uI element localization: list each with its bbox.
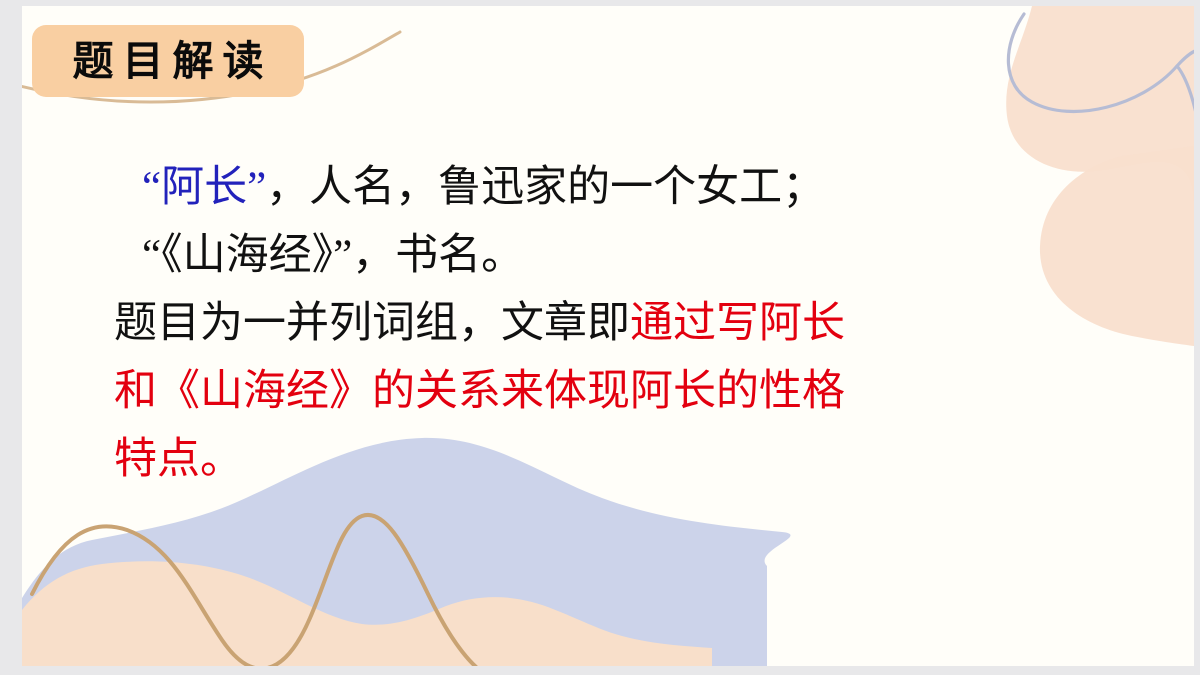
text-line: 题目为一并列词组，文章即通过写阿长: [114, 290, 1124, 358]
text-segment-black: 题目为一并列词组，文章即: [114, 300, 630, 347]
text-line: 特点。: [114, 426, 1124, 494]
title-badge: 题目解读: [32, 25, 304, 97]
text-segment-black: ，人名，鲁迅家的一个女工；: [266, 164, 825, 211]
text-segment-red: 通过写阿长: [630, 300, 845, 347]
text-line: “《山海经》”，书名。: [114, 222, 1124, 290]
bottom-peach-wave: [22, 561, 712, 666]
top-right-blue-curve-tail: [1177, 66, 1194, 306]
body-text-block: “阿长”，人名，鲁迅家的一个女工；“《山海经》”，书名。题目为一并列词组，文章即…: [114, 154, 1124, 494]
text-segment-black: “《山海经》”，书名。: [142, 232, 524, 279]
bottom-tan-curve: [32, 515, 492, 666]
slide-canvas: 题目解读 “阿长”，人名，鲁迅家的一个女工；“《山海经》”，书名。题目为一并列词…: [0, 0, 1200, 675]
text-segment-blue: “阿长”: [142, 164, 266, 211]
text-line: “阿长”，人名，鲁迅家的一个女工；: [114, 154, 1124, 222]
text-segment-red: 特点。: [114, 436, 243, 483]
slide-surface: 题目解读 “阿长”，人名，鲁迅家的一个女工；“《山海经》”，书名。题目为一并列词…: [22, 6, 1194, 666]
top-right-blue-curve: [1008, 14, 1194, 111]
title-badge-label: 题目解读: [64, 41, 273, 82]
text-line: 和《山海经》的关系来体现阿长的性格: [114, 358, 1124, 426]
text-segment-red: 和《山海经》的关系来体现阿长的性格: [114, 368, 845, 415]
